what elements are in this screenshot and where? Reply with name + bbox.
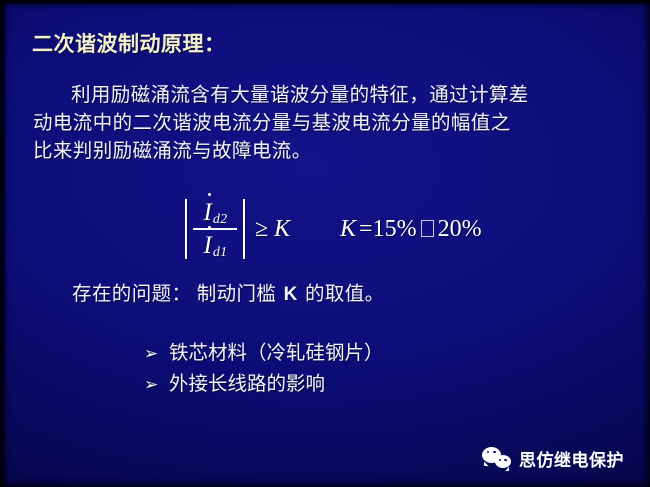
left-edge-band <box>0 0 5 487</box>
equals-sign: = <box>359 216 373 243</box>
abs-bar-right <box>243 199 245 259</box>
list-item-label: 铁芯材料（冷轧硅钢片） <box>169 336 384 365</box>
bullet-list: ➢ 铁芯材料（冷轧硅钢片） ➢ 外接长线路的影响 <box>144 336 384 398</box>
phasor-dot-icon <box>208 226 211 229</box>
denominator-subscript: d1 <box>213 246 228 260</box>
problem-symbol: K <box>282 284 300 305</box>
problem-label: 存在的问题： <box>72 284 191 305</box>
wechat-logo-icon <box>482 446 512 471</box>
abs-bar-left <box>185 199 187 259</box>
threshold-symbol: K <box>340 216 359 243</box>
list-item: ➢ 铁芯材料（冷轧硅钢片） <box>144 336 384 367</box>
list-item-label: 外接长线路的影响 <box>169 367 325 396</box>
watermark-text: 思仿继电保护 <box>519 446 624 471</box>
presentation-slide: 二次谐波制动原理： 利用励磁涌流含有大量谐波分量的特征，通过计算差 动电流中的二… <box>0 0 650 487</box>
arrow-bullet-icon: ➢ <box>144 344 169 364</box>
threshold-symbol: K <box>274 216 290 243</box>
slide-title: 二次谐波制动原理： <box>32 28 226 58</box>
numerator-symbol: I <box>203 200 213 225</box>
fraction-bar <box>193 228 237 230</box>
problem-statement: 存在的问题： 制动门槛 K 的取值。 <box>72 277 385 306</box>
numerator-subscript: d2 <box>213 213 228 227</box>
problem-text-before: 制动门槛 <box>197 284 277 305</box>
phasor-fraction: I d2 I d1 <box>190 198 240 260</box>
relation-operator: ≥ <box>255 216 268 243</box>
arrow-bullet-icon: ➢ <box>144 375 169 395</box>
absolute-value-group: I d2 I d1 <box>182 198 248 260</box>
speech-bubble-small <box>495 455 511 468</box>
formula-threshold-range: K = 15% 20% <box>340 196 482 262</box>
paragraph-line-3: 比来判别励磁涌流与故障电流。 <box>33 138 623 166</box>
formula-inequality: I d2 I d1 ≥ K <box>182 196 290 262</box>
phasor-dot-icon <box>208 193 211 196</box>
body-paragraph: 利用励磁涌流含有大量谐波分量的特征，通过计算差 动电流中的二次谐波电流分量与基波… <box>33 82 623 166</box>
watermark: 思仿继电保护 <box>482 443 624 473</box>
threshold-low: 15% <box>373 216 417 243</box>
missing-glyph-box-icon <box>421 220 434 237</box>
denominator-symbol: I <box>203 233 213 258</box>
paragraph-line-1: 利用励磁涌流含有大量谐波分量的特征，通过计算差 <box>33 82 623 110</box>
fraction-numerator: I d2 <box>203 199 228 226</box>
top-edge-band <box>0 0 650 4</box>
fraction-denominator: I d1 <box>203 232 228 259</box>
problem-text-after: 的取值。 <box>305 284 385 305</box>
paragraph-line-2: 动电流中的二次谐波电流分量与基波电流分量的幅值之 <box>33 110 623 138</box>
threshold-high: 20% <box>438 216 482 243</box>
edge-vignette <box>0 0 650 487</box>
list-item: ➢ 外接长线路的影响 <box>144 367 384 398</box>
